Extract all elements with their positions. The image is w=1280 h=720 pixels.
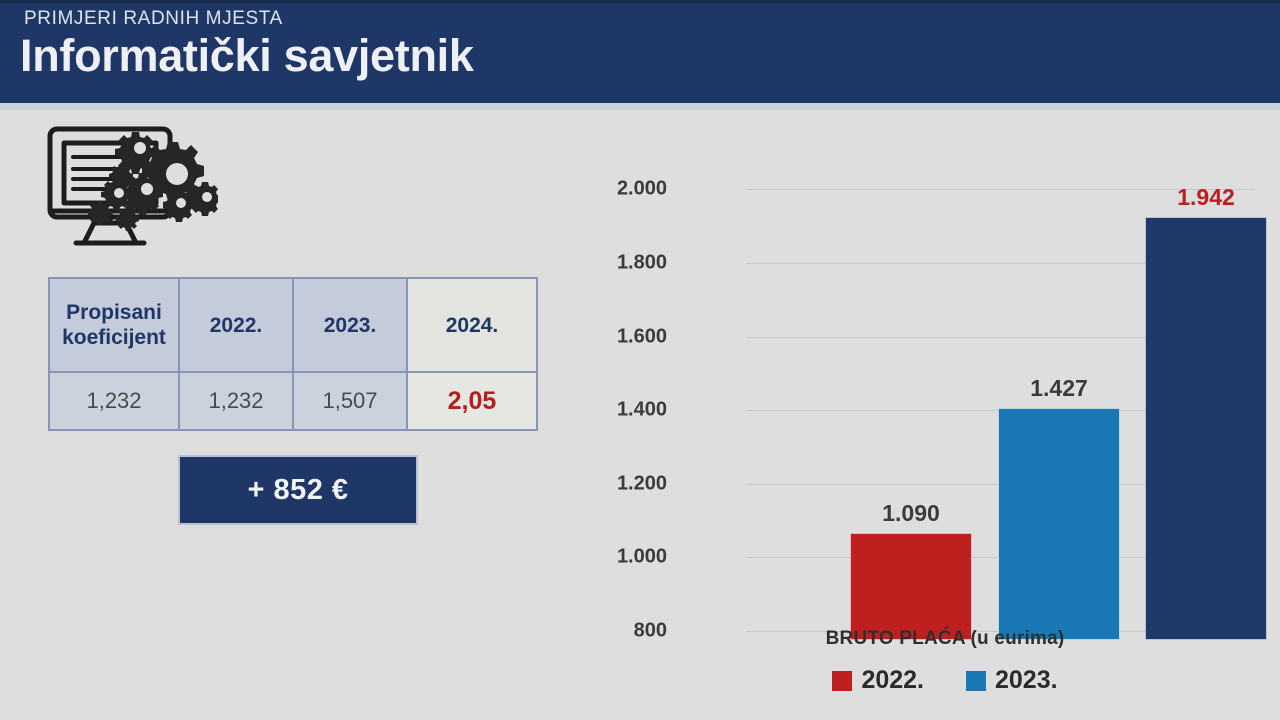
chart-plot-area: 2.000 1.800 1.600 1.400 1.200 1.000 800 … <box>695 155 1255 640</box>
y-axis-tick-1600: 1.600 <box>547 326 667 349</box>
table-header-label-1: 2022. <box>180 313 292 338</box>
legend-label-2022: 2022. <box>861 666 924 695</box>
y-axis-tick-1000: 1.000 <box>547 546 667 569</box>
table-header-cell-coefficient: Propisani koeficijent <box>49 278 179 372</box>
table-cell-value-3: 2,05 <box>407 372 537 430</box>
y-axis-tick-2000: 2.000 <box>547 178 667 201</box>
y-axis-tick-1400: 1.400 <box>547 399 667 422</box>
table-cell-value-0: 1,232 <box>49 372 179 430</box>
bar-2024[interactable]: 1.942 <box>1145 217 1267 640</box>
x-axis-title: BRUTO PLAĆA (u eurima) <box>620 628 1270 650</box>
slide-root: PRIMJERI RADNIH MJESTA Informatički savj… <box>0 0 1280 720</box>
table-header-label-2: 2023. <box>294 313 406 338</box>
bar-2022[interactable]: 1.090 <box>850 533 972 640</box>
table-row: 1,232 1,232 1,507 2,05 <box>49 372 537 430</box>
bar-label-2022: 1.090 <box>882 500 940 527</box>
legend-label-2023: 2023. <box>995 666 1058 695</box>
header-bottom-rule <box>0 103 1280 110</box>
bar-label-2023: 1.427 <box>1030 375 1088 402</box>
table-header-cell-2023: 2023. <box>293 278 407 372</box>
table-header-cell-2024: 2024. <box>407 278 537 372</box>
table-cell-value-2: 1,507 <box>293 372 407 430</box>
slide-header: PRIMJERI RADNIH MJESTA Informatički savj… <box>0 0 1280 103</box>
table-header-label-3: 2024. <box>408 313 536 338</box>
table-header-label-0: Propisani koeficijent <box>50 300 178 350</box>
salary-delta-badge: + 852 € <box>178 455 418 525</box>
table-header-cell-2022: 2022. <box>179 278 293 372</box>
page-title: Informatički savjetnik <box>20 30 474 82</box>
table-cell-value-1: 1,232 <box>179 372 293 430</box>
header-top-rule <box>0 0 1280 3</box>
chart-legend: 2022. 2023. <box>620 666 1270 695</box>
legend-item-2023[interactable]: 2023. <box>966 666 1058 695</box>
computer-gears-icon <box>38 115 218 260</box>
legend-item-2022[interactable]: 2022. <box>832 666 924 695</box>
bar-label-2024: 1.942 <box>1177 184 1235 211</box>
table-header-row: Propisani koeficijent 2022. 2023. 2024. <box>49 278 537 372</box>
legend-swatch-icon-2022 <box>832 671 852 691</box>
y-axis-tick-1200: 1.200 <box>547 473 667 496</box>
header-overline: PRIMJERI RADNIH MJESTA <box>24 8 283 30</box>
bar-2023[interactable]: 1.427 <box>998 408 1120 640</box>
bar-chart: 2.000 1.800 1.600 1.400 1.200 1.000 800 … <box>620 130 1270 710</box>
coefficient-table: Propisani koeficijent 2022. 2023. 2024. … <box>48 277 538 431</box>
legend-swatch-icon-2023 <box>966 671 986 691</box>
y-axis-tick-1800: 1.800 <box>547 252 667 275</box>
